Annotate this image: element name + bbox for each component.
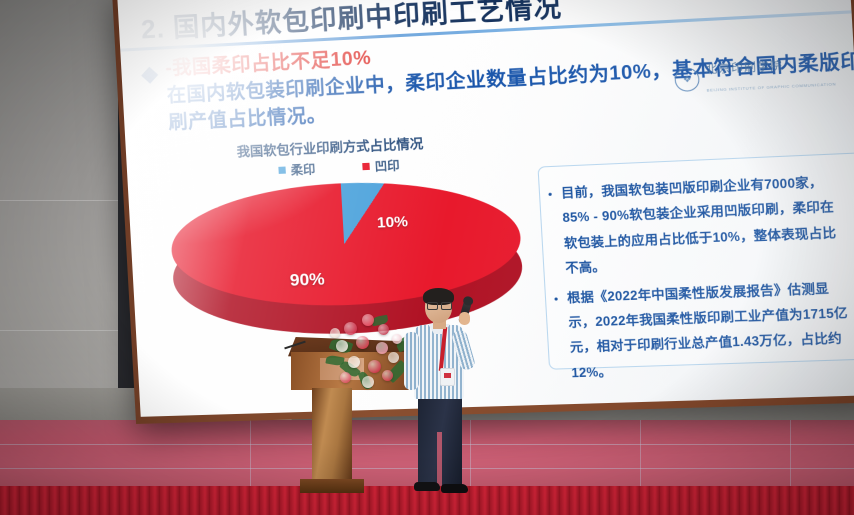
logo-name: 北京印刷学院 [705, 60, 783, 76]
podium-base [300, 479, 364, 493]
flower [368, 360, 381, 373]
flower [336, 340, 348, 352]
speaker-hand [459, 312, 470, 325]
glasses-icon [427, 302, 450, 308]
info-bullet-1: 根据《2022年中国柔性版发展报告》估测显示，2022年我国柔性版印刷工业产值为… [566, 275, 854, 386]
pie-label-1: 90% [289, 269, 325, 291]
flower [362, 376, 374, 388]
flower [356, 336, 369, 349]
flower [348, 356, 360, 368]
speaker-shoe-right [441, 484, 468, 493]
flower [388, 352, 399, 363]
flower [382, 370, 393, 381]
flower [392, 334, 402, 344]
flower [378, 324, 389, 335]
university-logo: ❖ 北京印刷学院 BEIJING INSTITUTE OF GRAPHIC CO… [674, 53, 837, 98]
presentation-photo: 2. 国内外软包印刷中印刷工艺情况 -我国柔印占比不足10% 在国内软包装印刷企… [0, 0, 854, 515]
projection-screen-frame: 2. 国内外软包印刷中印刷工艺情况 -我国柔印占比不足10% 在国内软包装印刷企… [112, 0, 854, 424]
flower [376, 342, 388, 354]
flower [362, 314, 374, 326]
info-panel-list: 目前，我国软包装凹版印刷企业有7000家，85% - 90%软包装企业采用凹版印… [539, 153, 854, 386]
speaker-shoe-left [414, 482, 440, 491]
flower [340, 372, 351, 383]
projection-screen: 2. 国内外软包印刷中印刷工艺情况 -我国柔印占比不足10% 在国内软包装印刷企… [117, 0, 854, 417]
speaker-badge [440, 368, 455, 386]
podium-column [312, 388, 352, 484]
flower [330, 328, 340, 338]
seal-icon: ❖ [674, 67, 700, 92]
speaker-arm-left [404, 332, 419, 390]
flower [344, 322, 357, 335]
logo-subtitle: BEIJING INSTITUTE OF GRAPHIC COMMUNICATI… [706, 81, 836, 92]
info-panel: 目前，我国软包装凹版印刷企业有7000家，85% - 90%软包装企业采用凹版印… [537, 152, 854, 369]
info-bullet-0: 目前，我国软包装凹版印刷企业有7000家，85% - 90%软包装企业采用凹版印… [560, 169, 851, 281]
projector-hotspot [117, 0, 416, 250]
speaker-leg-gap [437, 432, 442, 486]
